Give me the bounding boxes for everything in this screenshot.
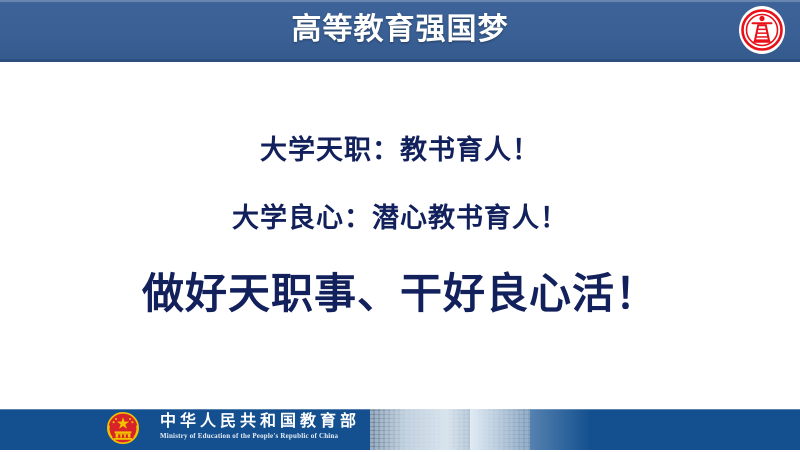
- body-line-1: 大学天职：教书育人！: [0, 128, 800, 167]
- footer-photo-fade: [470, 409, 590, 450]
- slide-content: 大学天职：教书育人！ 大学良心：潜心教书育人！ 做好天职事、干好良心活！: [0, 62, 800, 409]
- body-line-2: 大学良心：潜心教书育人！: [0, 196, 800, 235]
- slide: 高等教育强国梦 大学天职：教书育人！ 大学良心：潜心教书育人！ 做好天职事、干好…: [0, 0, 800, 450]
- body-line-3: 做好天职事、干好良心活！: [0, 260, 800, 321]
- footer-org-name-cn: 中华人民共和国教育部: [160, 412, 460, 431]
- university-tower-seal-logo-icon: [737, 5, 787, 55]
- page-title: 高等教育强国梦: [0, 0, 800, 59]
- china-national-emblem-icon: [104, 409, 142, 447]
- footer-org-block: 中华人民共和国教育部 Ministry of Education of the …: [160, 412, 460, 448]
- footer-org-name-en: Ministry of Education of the People's Re…: [160, 431, 460, 441]
- header-bar: 高等教育强国梦: [0, 0, 800, 62]
